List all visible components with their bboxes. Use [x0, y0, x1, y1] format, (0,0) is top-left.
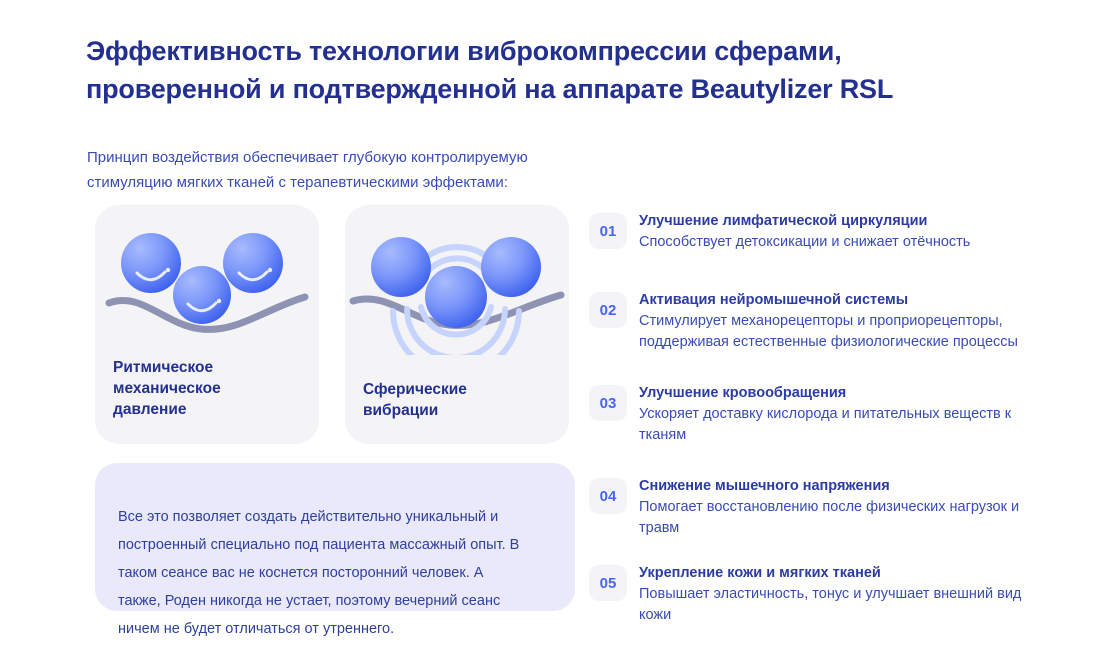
benefit-item-04[interactable]: 04 Снижение мышечного напряжения Помогае… [589, 476, 1069, 539]
benefit-title: Улучшение кровообращения [639, 383, 1063, 404]
card-label-line-2: механическое [113, 378, 221, 399]
benefit-desc-line-1: Способствует детоксикации и снижает отёч… [639, 232, 1063, 253]
benefit-title: Активация нейромышечной системы [639, 290, 1063, 311]
note-line-1: Все это позволяет создать действительно … [118, 503, 558, 531]
card-spherical-vibrations[interactable]: Сферические вибрации [345, 205, 569, 444]
benefit-desc-line-2: тканям [639, 425, 1063, 446]
benefit-content: Снижение мышечного напряжения Помогает в… [639, 476, 1063, 539]
benefit-item-03[interactable]: 03 Улучшение кровообращения Ускоряет дос… [589, 383, 1069, 446]
benefit-desc-line-1: Помогает восстановлению после физических… [639, 497, 1063, 518]
three-spheres-wave-icon [95, 205, 319, 355]
benefit-number-badge: 04 [589, 478, 627, 514]
card-rhythmic-mechanical-pressure[interactable]: Ритмическое механическое давление [95, 205, 319, 444]
benefit-number-badge: 03 [589, 385, 627, 421]
benefit-content: Улучшение кровообращения Ускоряет достав… [639, 383, 1063, 446]
promo-section: Эффективность технологии виброкомпрессии… [0, 0, 1105, 655]
intro-paragraph: Принцип воздействия обеспечивает глубоку… [87, 145, 607, 195]
card-label-line-1: Сферические [363, 379, 467, 400]
intro-line-1: Принцип воздействия обеспечивает глубоку… [87, 145, 607, 170]
card-label: Ритмическое механическое давление [113, 357, 221, 420]
benefit-content: Активация нейромышечной системы Стимулир… [639, 290, 1063, 353]
benefit-title: Улучшение лимфатической циркуляции [639, 211, 1063, 232]
benefit-desc-line-1: Повышает эластичность, тонус и улучшает … [639, 584, 1063, 605]
benefit-number-badge: 01 [589, 213, 627, 249]
benefit-item-01[interactable]: 01 Улучшение лимфатической циркуляции Сп… [589, 211, 1069, 253]
benefit-number-badge: 05 [589, 565, 627, 601]
benefit-title: Укрепление кожи и мягких тканей [639, 563, 1063, 584]
card-label: Сферические вибрации [363, 379, 467, 421]
benefit-item-02[interactable]: 02 Активация нейромышечной системы Стиму… [589, 290, 1069, 353]
note-line-2: построенный специально под пациента масс… [118, 531, 558, 559]
benefit-description: Повышает эластичность, тонус и улучшает … [639, 584, 1063, 626]
benefit-description: Ускоряет доставку кислорода и питательны… [639, 404, 1063, 446]
note-line-4: также, Роден никогда не устает, поэтому … [118, 587, 558, 615]
benefit-content: Улучшение лимфатической циркуляции Спосо… [639, 211, 1063, 253]
benefit-number-badge: 02 [589, 292, 627, 328]
benefit-desc-line-1: Ускоряет доставку кислорода и питательны… [639, 404, 1063, 425]
page-title-line-1: Эффективность технологии виброкомпрессии… [86, 32, 1026, 70]
spheres-vibration-waves-icon [345, 205, 569, 355]
note-line-5: ничем не будет отличаться от утреннего. [118, 615, 558, 643]
benefit-desc-line-2: травм [639, 518, 1063, 539]
benefit-title: Снижение мышечного напряжения [639, 476, 1063, 497]
card-label-line-2: вибрации [363, 400, 467, 421]
card-label-line-3: давление [113, 399, 221, 420]
summary-note-box: Все это позволяет создать действительно … [95, 463, 575, 611]
note-line-3: таком сеансе вас не коснется посторонний… [118, 559, 558, 587]
benefit-desc-line-1: Стимулирует механорецепторы и проприорец… [639, 311, 1063, 332]
benefit-description: Способствует детоксикации и снижает отёч… [639, 232, 1063, 253]
summary-note-text: Все это позволяет создать действительно … [118, 503, 558, 643]
benefit-content: Укрепление кожи и мягких тканей Повышает… [639, 563, 1063, 626]
benefit-description: Стимулирует механорецепторы и проприорец… [639, 311, 1063, 353]
benefit-desc-line-2: кожи [639, 605, 1063, 626]
benefit-desc-line-2: поддерживая естественные физиологические… [639, 332, 1063, 353]
benefit-description: Помогает восстановлению после физических… [639, 497, 1063, 539]
intro-line-2: стимуляцию мягких тканей с терапевтическ… [87, 170, 607, 195]
card-label-line-1: Ритмическое [113, 357, 221, 378]
benefit-item-05[interactable]: 05 Укрепление кожи и мягких тканей Повыш… [589, 563, 1069, 626]
page-title-line-2: проверенной и подтвержденной на аппарате… [86, 70, 1026, 108]
page-title: Эффективность технологии виброкомпрессии… [86, 32, 1026, 108]
